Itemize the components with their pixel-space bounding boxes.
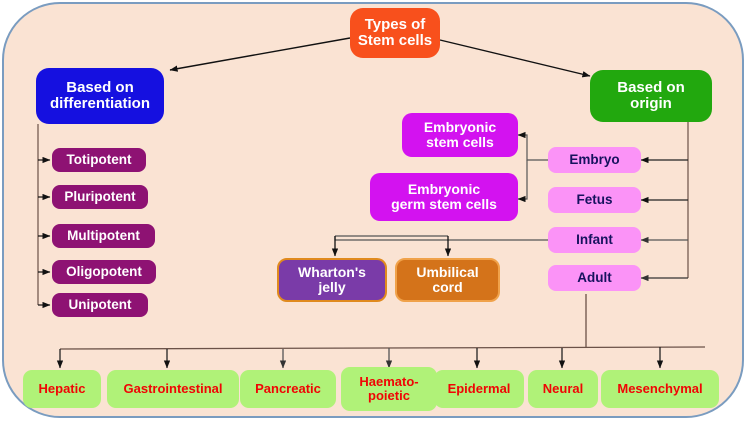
potency-node-pluripotent[interactable]: Pluripotent — [52, 185, 148, 209]
branch-node-based-on-differentiation[interactable]: Based on differentiation — [36, 68, 164, 124]
origin-node-label: Embryo — [569, 153, 619, 168]
tissue-node-label: Hepatic — [39, 382, 86, 396]
potency-node-oligopotent[interactable]: Oligopotent — [52, 260, 156, 284]
infant-source-node-label: Wharton's jelly — [298, 265, 366, 295]
infant-source-node-whartons-jelly[interactable]: Wharton's jelly — [277, 258, 387, 302]
tissue-node-label: Epidermal — [448, 382, 511, 396]
embryonic-node-germ-stem-cells[interactable]: Embryonic germ stem cells — [370, 173, 518, 221]
branch-node-label: Based on origin — [617, 80, 685, 112]
infant-source-node-umbilical-cord[interactable]: Umbilical cord — [395, 258, 500, 302]
potency-node-label: Oligopotent — [66, 265, 142, 280]
origin-node-label: Adult — [577, 271, 612, 286]
tissue-node-haematopoietic[interactable]: Haemato- poietic — [341, 367, 437, 411]
origin-node-label: Fetus — [576, 193, 612, 208]
tissue-node-label: Neural — [543, 382, 583, 396]
tissue-node-label: Pancreatic — [255, 382, 321, 396]
root-node-types-of-stem-cells[interactable]: Types of Stem cells — [350, 8, 440, 58]
origin-node-infant[interactable]: Infant — [548, 227, 641, 253]
tissue-node-mesenchymal[interactable]: Mesenchymal — [601, 370, 719, 408]
infant-source-node-label: Umbilical cord — [416, 265, 478, 295]
potency-node-label: Pluripotent — [64, 190, 135, 205]
root-node-label: Types of Stem cells — [358, 17, 432, 49]
tissue-node-label: Haemato- poietic — [359, 375, 418, 403]
edge-embryo-branch — [518, 135, 548, 160]
origin-node-adult[interactable]: Adult — [548, 265, 641, 291]
tissue-node-pancreatic[interactable]: Pancreatic — [240, 370, 336, 408]
edge-infant-bus — [335, 236, 548, 240]
embryonic-node-label: Embryonic stem cells — [424, 120, 496, 150]
edge-embryo-germ-branch — [518, 160, 527, 199]
tissue-node-label: Mesenchymal — [617, 382, 702, 396]
potency-node-unipotent[interactable]: Unipotent — [52, 293, 148, 317]
potency-node-label: Unipotent — [69, 298, 132, 313]
origin-node-fetus[interactable]: Fetus — [548, 187, 641, 213]
tissue-node-label: Gastrointestinal — [124, 382, 223, 396]
potency-node-label: Totipotent — [67, 153, 132, 168]
tissue-node-gastrointestinal[interactable]: Gastrointestinal — [107, 370, 239, 408]
potency-node-totipotent[interactable]: Totipotent — [52, 148, 146, 172]
potency-node-multipotent[interactable]: Multipotent — [52, 224, 155, 248]
branch-node-based-on-origin[interactable]: Based on origin — [590, 70, 712, 122]
tissue-node-epidermal[interactable]: Epidermal — [434, 370, 524, 408]
embryonic-node-stem-cells[interactable]: Embryonic stem cells — [402, 113, 518, 157]
tissue-node-hepatic[interactable]: Hepatic — [23, 370, 101, 408]
diagram-canvas: Types of Stem cells Based on differentia… — [0, 0, 750, 422]
edge-root-to-differentiation — [170, 38, 350, 70]
tissue-node-neural[interactable]: Neural — [528, 370, 598, 408]
edge-tissue-bus — [60, 347, 705, 349]
origin-node-label: Infant — [576, 233, 613, 248]
origin-node-embryo[interactable]: Embryo — [548, 147, 641, 173]
potency-node-label: Multipotent — [67, 229, 140, 244]
branch-node-label: Based on differentiation — [50, 80, 150, 112]
embryonic-node-label: Embryonic germ stem cells — [391, 182, 497, 212]
edge-root-to-origin — [440, 40, 590, 76]
